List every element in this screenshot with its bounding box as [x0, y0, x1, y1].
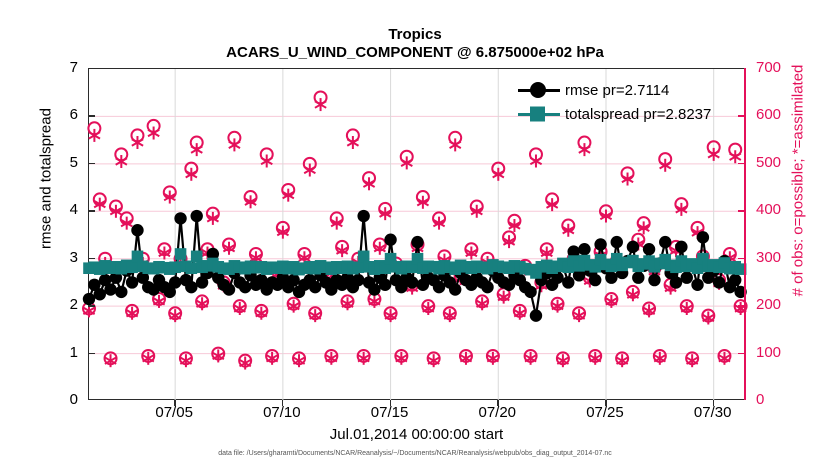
y-tick-label-right: 500 [756, 154, 800, 171]
y-tick-label-right: 0 [756, 391, 800, 408]
x-tick-mark [282, 400, 284, 406]
y-tick-mark-left [88, 163, 95, 165]
y-tick-label-left: 0 [48, 391, 78, 408]
y-tick-mark-right [738, 210, 745, 212]
y-tick-mark-left [88, 353, 95, 355]
y-tick-label-left: 7 [48, 59, 78, 76]
y-tick-label-left: 1 [48, 344, 78, 361]
y-tick-mark-left [88, 115, 95, 117]
y-tick-label-right: 700 [756, 59, 800, 76]
y-tick-mark-right [738, 115, 745, 117]
y-tick-mark-left [88, 305, 95, 307]
x-tick-label: 07/15 [355, 404, 425, 421]
x-tick-mark [497, 400, 499, 406]
y-tick-label-right: 300 [756, 249, 800, 266]
y-tick-label-right: 400 [756, 201, 800, 218]
legend-item-totalspread: totalspread pr=2.8237 [518, 102, 711, 126]
y-tick-mark-left [88, 258, 95, 260]
x-tick-label: 07/05 [139, 404, 209, 421]
x-tick-mark [605, 400, 607, 406]
legend-label-rmse: rmse pr=2.7114 [560, 82, 669, 99]
x-tick-label: 07/20 [462, 404, 532, 421]
x-tick-mark [390, 400, 392, 406]
x-tick-mark [713, 400, 715, 406]
chart-legend: rmse pr=2.7114 totalspread pr=2.8237 [518, 78, 711, 126]
legend-line-totalspread [518, 113, 560, 116]
y-tick-label-right: 600 [756, 106, 800, 123]
y-tick-label-left: 6 [48, 106, 78, 123]
x-axis-label: Jul.01,2014 00:00:00 start [88, 426, 745, 443]
y-tick-label-right: 200 [756, 296, 800, 313]
y-tick-label-left: 5 [48, 154, 78, 171]
right-axis-line [744, 68, 746, 400]
y-tick-mark-right [738, 258, 745, 260]
y-tick-label-right: 100 [756, 344, 800, 361]
y-tick-mark-right [738, 163, 745, 165]
circle-marker-icon [530, 82, 546, 98]
y-tick-mark-left [88, 210, 95, 212]
data-file-footer: data file: /Users/gharamti/Documents/NCA… [0, 450, 830, 457]
y-tick-mark-right [738, 305, 745, 307]
x-tick-label: 07/25 [570, 404, 640, 421]
chart-title-sub: ACARS_U_WIND_COMPONENT @ 6.875000e+02 hP… [0, 44, 830, 61]
legend-line-rmse [518, 89, 560, 92]
y-tick-label-left: 2 [48, 296, 78, 313]
chart-title-main: Tropics [0, 26, 830, 43]
square-marker-icon [530, 107, 545, 122]
legend-label-totalspread: totalspread pr=2.8237 [560, 106, 711, 123]
y-tick-mark-right [738, 353, 745, 355]
y-tick-label-left: 4 [48, 201, 78, 218]
x-tick-label: 07/30 [678, 404, 748, 421]
y-tick-label-left: 3 [48, 249, 78, 266]
legend-item-rmse: rmse pr=2.7114 [518, 78, 711, 102]
x-tick-label: 07/10 [247, 404, 317, 421]
x-tick-mark [174, 400, 176, 406]
